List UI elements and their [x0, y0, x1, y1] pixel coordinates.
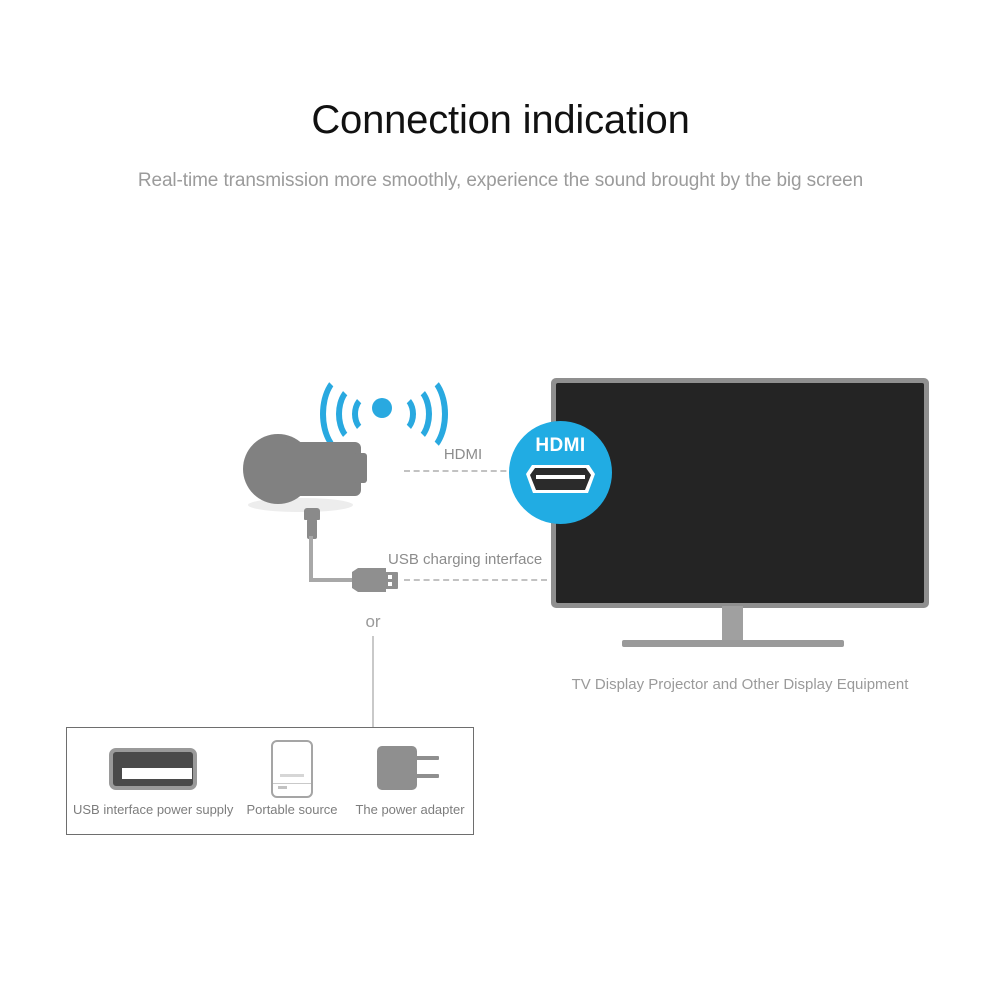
or-connector-line: [372, 636, 374, 728]
tv-caption: TV Display Projector and Other Display E…: [520, 676, 960, 693]
tv-stand-neck: [722, 606, 743, 644]
usb-connector-label: USB charging interface: [388, 551, 542, 568]
power-bank-led: [278, 786, 287, 789]
usb-cable-vertical: [309, 536, 313, 582]
usb-plug-body: [352, 568, 386, 592]
power-bank-icon: [237, 728, 347, 800]
hdmi-connector-label: HDMI: [404, 446, 522, 463]
page-title: Connection indication: [0, 98, 1001, 142]
power-bank-brand-line: [280, 774, 304, 777]
usb-plug-contact-top: [388, 575, 392, 579]
power-option-label: Portable source: [237, 802, 347, 817]
usb-a-plug-icon: [352, 565, 398, 595]
power-option-portable-source: Portable source: [237, 728, 347, 836]
or-label: or: [346, 612, 400, 632]
hdmi-port-inner-icon: [530, 468, 591, 490]
page-subtitle: Real-time transmission more smoothly, ex…: [0, 170, 1001, 192]
power-option-wall-adapter: The power adapter: [351, 728, 469, 836]
dongle-body: [283, 442, 361, 496]
usb-port-slot: [122, 768, 192, 779]
usb-dashed-connector: [404, 579, 547, 581]
usb-port-icon: [73, 728, 233, 800]
adapter-prong-bottom: [415, 774, 439, 778]
power-option-label: The power adapter: [351, 802, 469, 817]
adapter-prong-top: [415, 756, 439, 760]
wifi-arc-right-outer: [398, 373, 448, 455]
hdmi-dashed-connector: [404, 470, 516, 472]
power-bank-body: [271, 740, 313, 798]
wireless-display-dongle: [243, 434, 368, 504]
connection-diagram-page: Connection indication Real-time transmis…: [0, 0, 1001, 1001]
hdmi-port-badge: HDMI: [509, 421, 612, 524]
tv-stand-base: [622, 640, 844, 647]
power-options-box: USB interface power supply Portable sour…: [66, 727, 474, 835]
usb-port-shell: [109, 748, 197, 790]
tv-screen: [556, 383, 924, 603]
hdmi-badge-label: HDMI: [509, 435, 612, 457]
power-bank-divider: [273, 783, 311, 784]
micro-usb-connector-icon: [303, 508, 321, 538]
wall-adapter-icon: [351, 728, 469, 800]
adapter-body: [377, 746, 417, 790]
dongle-hdmi-plug: [353, 453, 367, 483]
power-option-label: USB interface power supply: [73, 802, 233, 817]
usb-cable-horizontal: [309, 578, 355, 582]
power-option-usb-port: USB interface power supply: [73, 728, 233, 836]
usb-plug-contact-bottom: [388, 582, 392, 586]
hdmi-port-slot-icon: [536, 475, 585, 479]
